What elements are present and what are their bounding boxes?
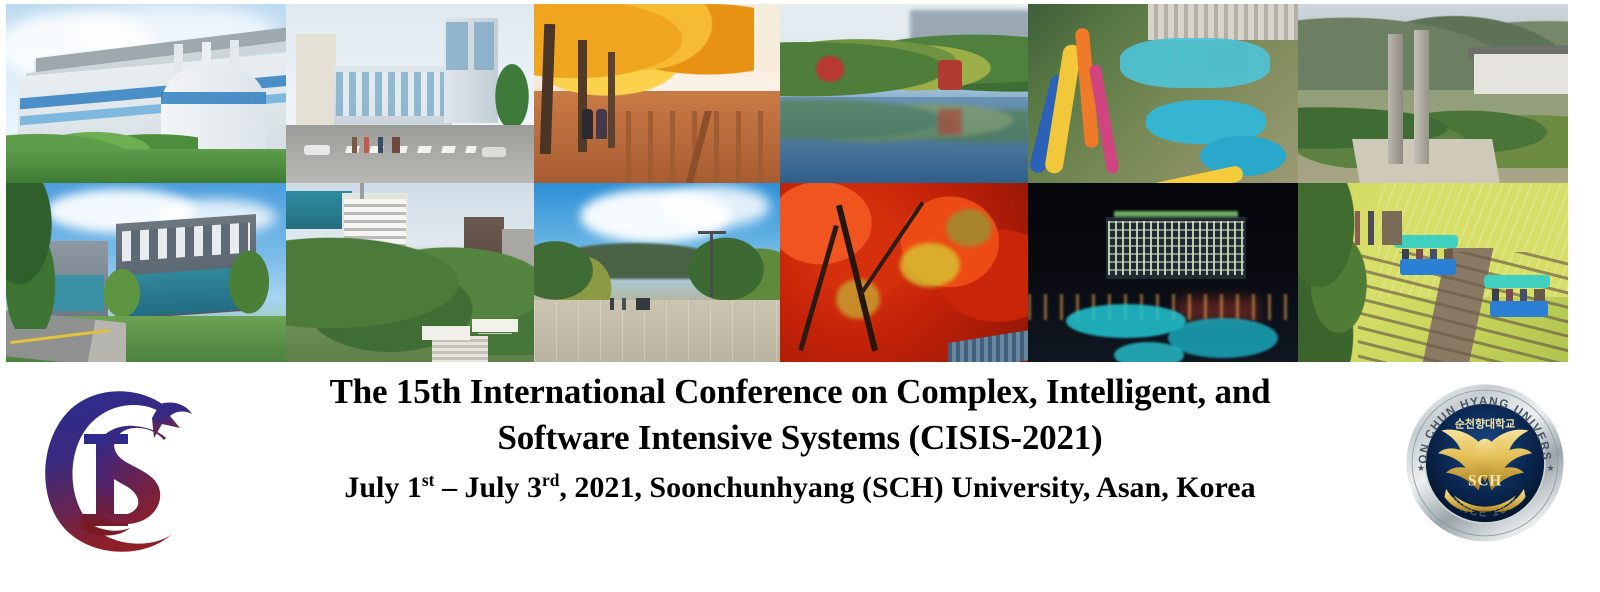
mid-building-windows: [336, 72, 450, 116]
forested-hill: [286, 235, 534, 355]
date-separator: – July 3: [434, 471, 542, 504]
tree-trunk: [608, 52, 615, 148]
cart-body: [1400, 259, 1456, 275]
title-block: The 15th International Conference on Com…: [210, 368, 1390, 510]
red-pavilion: [938, 60, 962, 90]
parked-car: [304, 145, 330, 155]
roadside-bushes: [1298, 183, 1396, 362]
collage-photo-promenade: [534, 183, 780, 362]
monument-pillar: [1414, 30, 1429, 164]
foreground-tree: [6, 183, 76, 329]
cis-logo: [22, 378, 202, 563]
collage-photo-ginkgo-path: [534, 4, 780, 183]
red-foliage: [816, 56, 844, 82]
collage-photo-red-maple: [780, 183, 1028, 362]
collage-photo-rail-bike: [1298, 183, 1568, 362]
conference-title-line-1: The 15th International Conference on Com…: [210, 368, 1390, 416]
cart-canopy: [1484, 275, 1550, 288]
illuminated-pool: [1168, 318, 1278, 358]
cart-canopy: [1394, 235, 1458, 248]
seal-korean-name: 순천향대학교: [1455, 416, 1515, 430]
tower-window-band: [446, 22, 468, 70]
seal-star-right: ★: [1547, 463, 1555, 473]
pedestrians: [610, 298, 650, 310]
venue-text: , 2021, Soonchunhyang (SCH) University, …: [559, 471, 1255, 504]
water-reflection: [780, 97, 1028, 153]
rail-bike-cart: [1484, 275, 1550, 317]
hotel-roof-lighting: [1114, 211, 1238, 217]
conference-date-venue-line: July 1st – July 3rd, 2021, Soonchunhyang…: [210, 466, 1390, 510]
seal-star-left: ★: [1417, 463, 1425, 473]
white-pergola: [472, 319, 518, 332]
walking-person: [596, 109, 607, 139]
pavilion-reflection: [938, 109, 962, 135]
resort-building: [1148, 4, 1298, 40]
illuminated-pool: [1114, 342, 1184, 362]
street-lamp-post: [710, 231, 713, 297]
yellow-foliage-patch: [900, 243, 960, 287]
communication-mast: [360, 183, 364, 199]
parked-car: [482, 147, 506, 157]
cart-riders: [1492, 289, 1545, 301]
pavement-joints: [534, 300, 780, 362]
collage-photo-modern-campus: [6, 183, 286, 362]
cloud-shape: [660, 185, 770, 227]
monument-pillar: [1388, 34, 1403, 164]
seal-monogram: SCH: [1468, 473, 1502, 490]
rail-bike-cart: [1394, 235, 1458, 275]
water-slide-yellow: [1124, 165, 1245, 183]
white-pergola: [422, 326, 470, 340]
walking-person: [582, 109, 593, 139]
pedestrians: [352, 137, 400, 153]
collage-photo-campus-towers: [286, 4, 534, 183]
collage-photo-autumn-lake: [780, 4, 1028, 183]
photo-collage: [6, 4, 1568, 362]
conference-banner: The 15th International Conference on Com…: [0, 0, 1600, 592]
cart-body: [1490, 301, 1548, 317]
wooden-fence: [626, 111, 780, 183]
traditional-tiled-roof: [948, 329, 1028, 362]
conference-title-line-2: Software Intensive Systems (CISIS-2021): [210, 414, 1390, 462]
date-end-ordinal: rd: [542, 470, 559, 490]
collage-row-top: [6, 4, 1568, 183]
illuminated-pool: [1066, 304, 1186, 338]
green-foliage-patch: [946, 209, 992, 247]
swimming-pool: [1120, 38, 1270, 88]
golden-ginkgo-canopy: [534, 4, 754, 104]
collage-photo-hillside-campus: [286, 183, 534, 362]
date-start-ordinal: st: [422, 470, 435, 490]
rotunda-blue-band: [161, 92, 266, 104]
date-start: July 1: [344, 471, 422, 504]
collage-photo-night-resort: [1028, 183, 1298, 362]
collage-photo-water-park-aerial: [1028, 4, 1298, 183]
sch-university-seal: SOON CHUN HYANG UNIVERSITY SINCE 1978 ★ …: [1404, 382, 1566, 544]
side-building: [296, 34, 336, 134]
collage-photo-university-building: [6, 4, 286, 183]
collage-photo-independence-hall: [1298, 4, 1568, 183]
hedge-row: [6, 149, 286, 183]
collage-row-bottom: [6, 183, 1568, 362]
hotel-lit-windows: [1108, 221, 1244, 275]
